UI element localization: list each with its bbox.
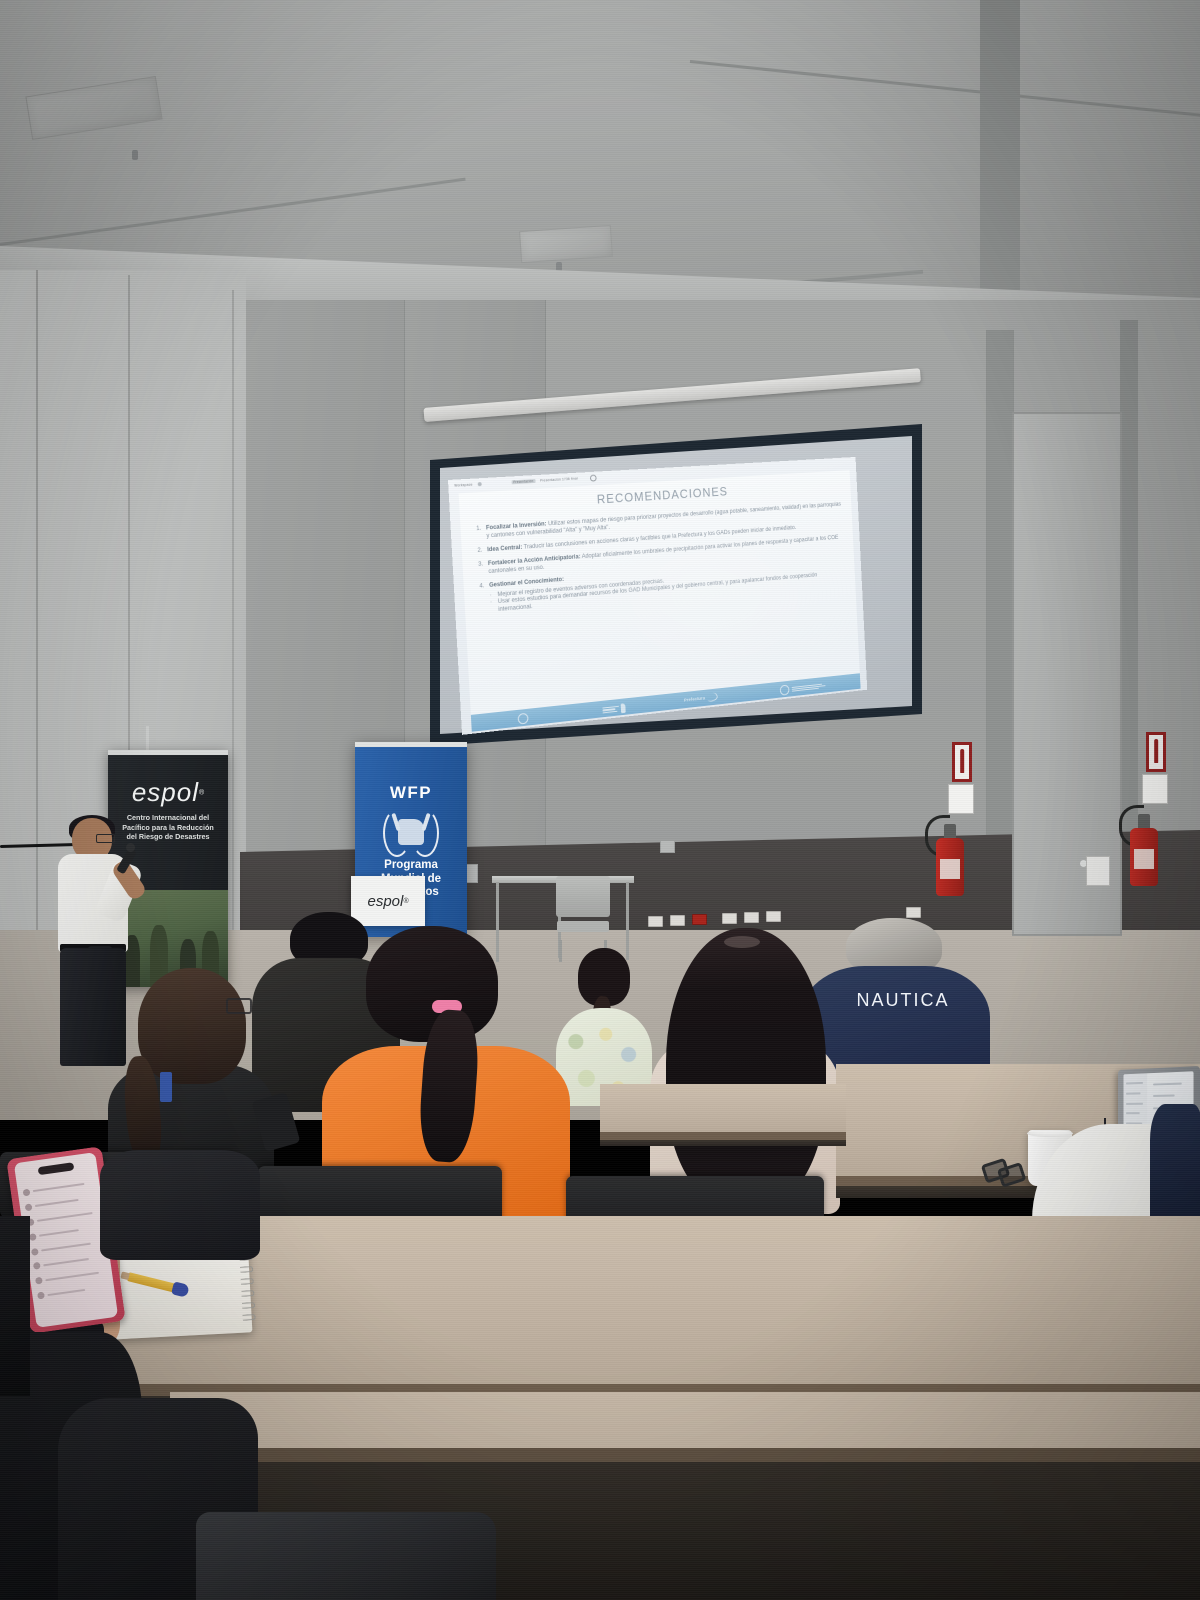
audience-woman-long-dark-hair [636, 928, 852, 1214]
slide: RECOMENDACIONES 1. Focalizar la Inversió… [459, 470, 861, 732]
power-outlet[interactable] [744, 912, 759, 923]
hair-part [724, 936, 760, 948]
sprinkler-head [132, 150, 138, 160]
registered-mark: ® [199, 790, 204, 797]
lanyard [160, 1072, 172, 1102]
bullet-lead: Idea Central: [487, 545, 522, 553]
doc-title-label: Presentación 1736 final [540, 477, 578, 483]
power-outlet[interactable] [722, 913, 737, 924]
phone-notch [37, 1162, 74, 1175]
fire-extinguisher-sign [1146, 732, 1166, 772]
bullet-number: 2. [477, 547, 484, 555]
conference-room-photo: Workspace Presentación Presentación 1736… [0, 0, 1200, 1600]
power-outlet[interactable] [670, 915, 685, 926]
workspace-label: Workspace [454, 483, 473, 488]
wfp-acronym: WFP [355, 783, 467, 803]
fire-extinguisher[interactable] [1130, 808, 1158, 886]
eyeglasses-icon [96, 834, 115, 843]
ceiling-seam [980, 0, 1020, 300]
wfp-subtitle-line-1: Programa [355, 859, 467, 873]
eyeglasses-icon [226, 998, 252, 1014]
fire-safety-info-sign [1142, 774, 1168, 804]
emergency-power-outlet[interactable] [692, 914, 707, 925]
door-notice-sign [1086, 856, 1110, 886]
bullet-number: 3. [478, 561, 486, 577]
wfp-logo [602, 703, 625, 715]
help-circle-icon[interactable] [590, 474, 597, 481]
fire-extinguisher[interactable] [936, 818, 964, 896]
chevron-down-icon[interactable] [477, 482, 481, 486]
shoulder-navy [1150, 1104, 1200, 1224]
foreground-chair-back [196, 1512, 496, 1600]
espol-cipr-logo [780, 681, 826, 696]
un-laurel-wheat-emblem-icon [382, 805, 440, 857]
foreground-edge-shadow [0, 1216, 30, 1396]
hair [138, 968, 246, 1084]
espol-sign-wordmark: espol [367, 893, 403, 910]
power-outlet[interactable] [766, 911, 781, 922]
doc-chip: Presentación [511, 479, 535, 484]
fire-extinguisher-sign [952, 742, 972, 782]
power-outlet[interactable] [906, 907, 921, 918]
bullet-number: 4. [479, 583, 486, 591]
hair-long [666, 928, 826, 1208]
ceiling-air-diffuser [519, 225, 613, 263]
registered-mark: ® [403, 898, 408, 905]
slide-body: 1. Focalizar la Inversión: Utilizar esto… [476, 502, 847, 616]
desk-row-right-far [600, 1084, 846, 1146]
un-emblem-logo [518, 713, 529, 725]
prefectura-label: Prefectura [684, 696, 705, 703]
power-outlet[interactable] [648, 916, 663, 927]
projected-presentation: Workspace Presentación Presentación 1736… [448, 457, 867, 735]
torso-black-top [100, 1150, 260, 1260]
prefectura-logo: Prefectura [684, 692, 718, 704]
fire-safety-info-sign [948, 784, 974, 814]
bullet-dot-icon: · [490, 600, 496, 616]
microphone-capsule [126, 843, 135, 852]
espol-wordmark: espol [132, 777, 199, 807]
bullet-number: 1. [476, 526, 484, 542]
jacket-brand-text: NAUTICA [834, 990, 972, 1011]
person-foreground-black-top [100, 1150, 260, 1270]
wall-access-panel [660, 840, 675, 853]
